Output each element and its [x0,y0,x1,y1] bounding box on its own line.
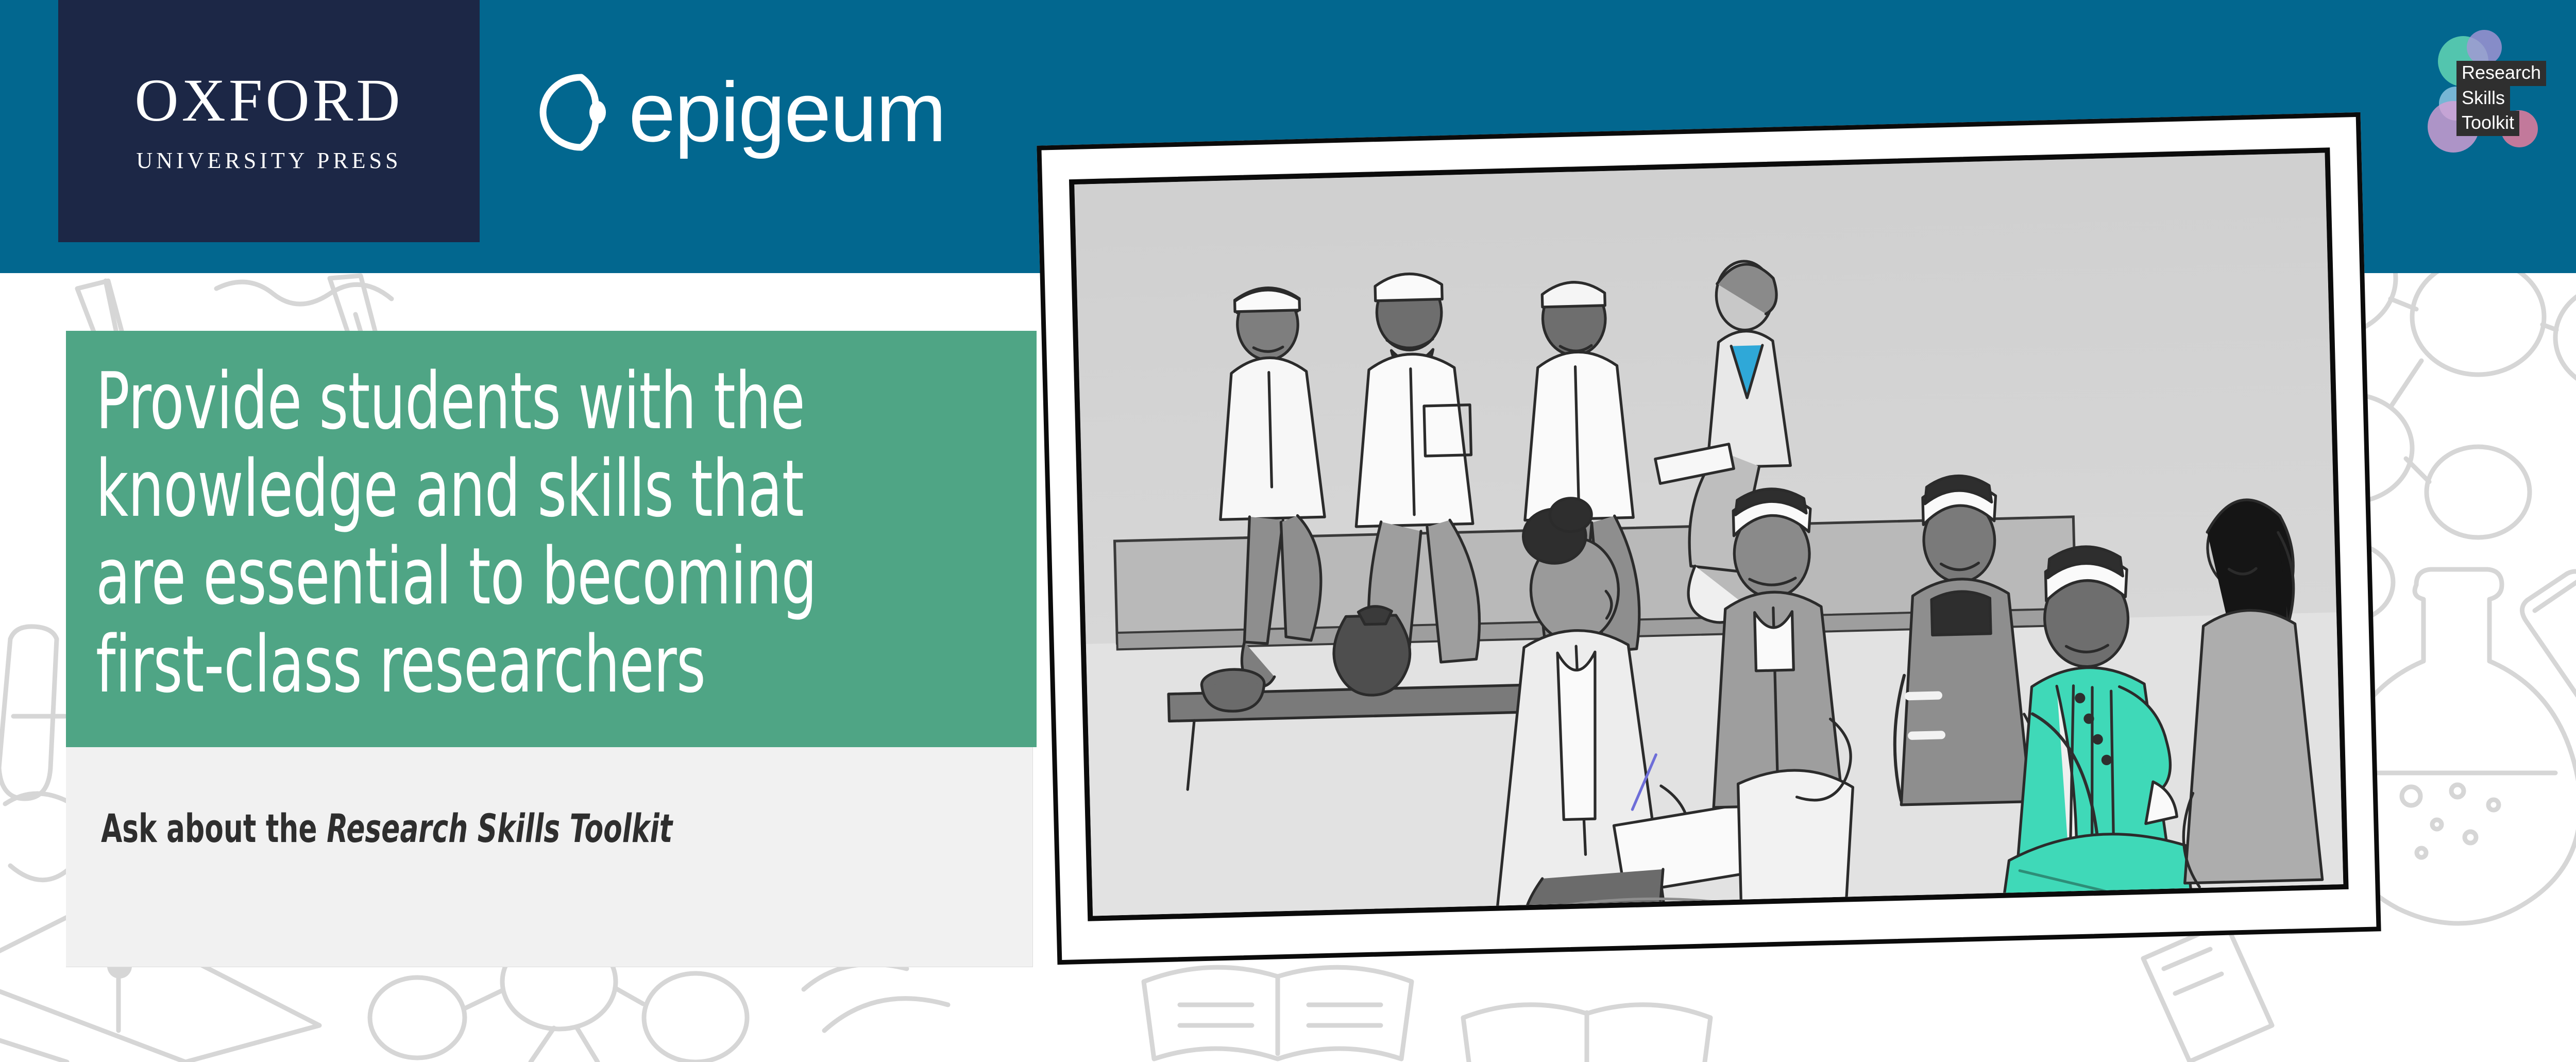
rst-text-blocks: Research Skills Toolkit [2456,61,2546,136]
subtitle-prefix: Ask about the [101,805,327,851]
scribble-doodle [216,282,392,304]
rst-line-toolkit: Toolkit [2456,111,2519,136]
headline-line-4: first-class researchers [96,621,1006,709]
test-tube-doodle [2522,571,2576,804]
open-book-doodle-2 [1463,1005,1710,1062]
photo-inner-border [1069,147,2349,921]
headline-panel: Provide students with the knowledge and … [66,331,1037,747]
open-book-doodle-1 [1144,967,1412,1059]
rst-circle-purple [2467,30,2502,65]
paper-doodle [2143,922,2272,1061]
oxford-subtitle: UNIVERSITY PRESS [137,149,402,172]
epigeum-wordmark: epigeum [629,70,945,155]
research-group-illustration [1074,153,2343,916]
headline-line-2: knowledge and skills that [96,445,1006,533]
headline-text: Provide students with the knowledge and … [96,358,1006,709]
rst-line-research: Research [2456,61,2546,86]
epigeum-ring-icon [520,66,639,159]
subtitle-panel: Ask about the Research Skills Toolkit [66,747,1033,967]
subtitle-text: Ask about the Research Skills Toolkit [101,809,827,848]
beaker-doodle [0,627,65,799]
banner-root: OXFORD UNIVERSITY PRESS epigeum Research… [0,0,2576,1062]
epigeum-logo[interactable]: epigeum [520,66,945,159]
subtitle-emphasis: Research Skills Toolkit [327,805,672,851]
oxford-university-press-logo[interactable]: OXFORD UNIVERSITY PRESS [58,0,480,242]
photo-frame [1037,112,2381,965]
research-skills-toolkit-logo[interactable]: Research Skills Toolkit [2413,9,2568,164]
headline-line-1: Provide students with the [96,358,1006,445]
headline-line-3: are essential to becoming [96,533,1006,620]
oxford-wordmark: OXFORD [134,70,403,131]
microscope-doodle [804,964,948,1031]
rst-line-skills: Skills [2456,86,2510,111]
